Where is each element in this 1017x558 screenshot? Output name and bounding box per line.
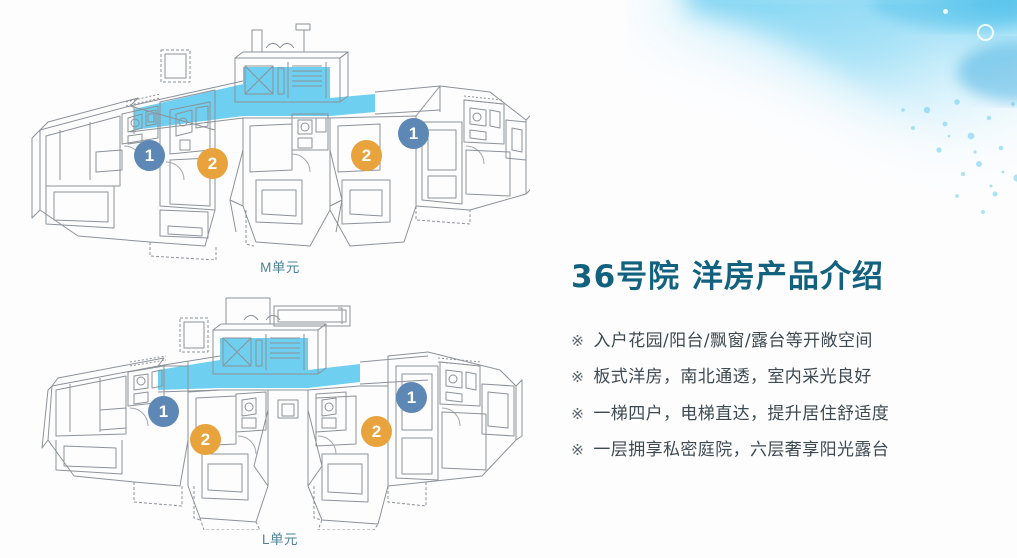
feature-text: 入户花园/阳台/飘窗/露台等开敞空间	[593, 326, 872, 351]
reference-mark-icon: ※	[571, 405, 584, 423]
watercolor-splash-top-right	[627, 0, 1017, 260]
reference-mark-icon: ※	[571, 332, 584, 350]
badge-l-unit-1-right[interactable]: 1	[396, 382, 427, 413]
feature-item: ※ 入户花园/阳台/飘窗/露台等开敞空间	[571, 326, 991, 351]
feature-item: ※ 板式洋房，南北通透，室内采光良好	[571, 362, 991, 387]
feature-text: 一层拥享私密庭院，六层奢享阳光露台	[593, 435, 889, 460]
floorplan-m-unit: M单元	[30, 10, 530, 290]
badge-m-unit-2-right[interactable]: 2	[351, 140, 382, 171]
badge-l-unit-1-left[interactable]: 1	[148, 396, 179, 427]
decorative-dot	[943, 9, 948, 14]
floorplan-l-unit: L单元	[30, 290, 530, 558]
feature-item: ※ 一层拥享私密庭院，六层奢享阳光露台	[571, 435, 991, 460]
feature-list: ※ 入户花园/阳台/飘窗/露台等开敞空间 ※ 板式洋房，南北通透，室内采光良好 …	[571, 326, 991, 461]
reference-mark-icon: ※	[571, 441, 584, 459]
decorative-ring	[977, 24, 994, 41]
floorplan-m-unit-drawing	[30, 10, 530, 260]
badge-m-unit-1-right[interactable]: 1	[398, 118, 429, 149]
page-title: 36号院 洋房产品介绍	[571, 258, 991, 297]
unit-caption-l: L单元	[30, 528, 530, 548]
badge-l-unit-2-right[interactable]: 2	[361, 416, 392, 447]
badge-m-unit-2-left[interactable]: 2	[197, 148, 228, 179]
reference-mark-icon: ※	[571, 368, 584, 386]
badge-l-unit-2-left[interactable]: 2	[190, 424, 221, 455]
floorplan-l-unit-drawing	[30, 290, 530, 530]
feature-text: 板式洋房，南北通透，室内采光良好	[593, 362, 871, 387]
unit-caption-m: M单元	[30, 256, 530, 276]
feature-text: 一梯四户，电梯直达，提升居住舒适度	[593, 399, 889, 424]
badge-m-unit-1-left[interactable]: 1	[134, 140, 165, 171]
slide-canvas: M单元 1 2 2 1	[0, 0, 1017, 558]
feature-item: ※ 一梯四户，电梯直达，提升居住舒适度	[571, 399, 991, 424]
product-info-panel: 36号院 洋房产品介绍 ※ 入户花园/阳台/飘窗/露台等开敞空间 ※ 板式洋房，…	[571, 258, 991, 472]
